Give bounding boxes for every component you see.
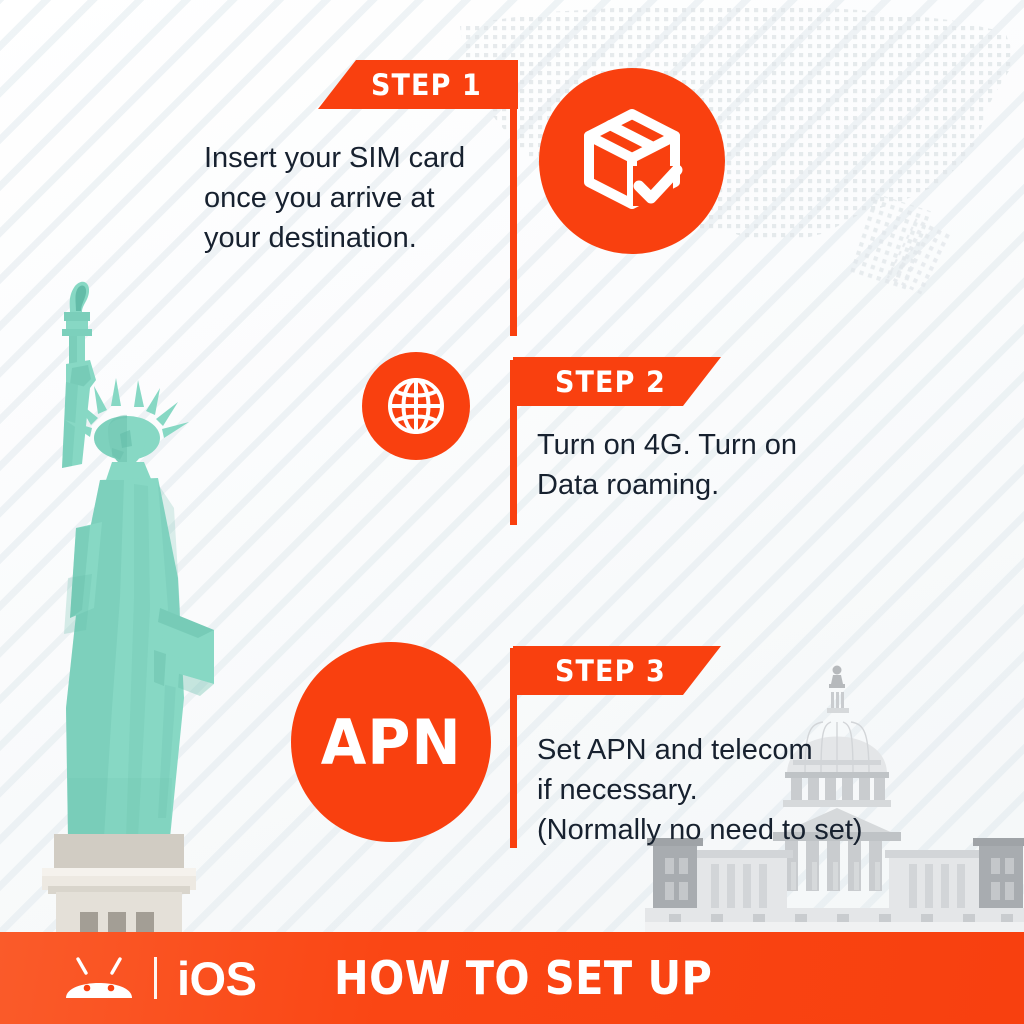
step-3-icon-circle: APN	[291, 642, 491, 842]
apn-text-icon: APN	[321, 706, 462, 779]
step-2-banner-label: STEP 2	[555, 365, 666, 399]
statue-of-liberty-illustration	[8, 278, 223, 938]
usa-dotted-map-pattern	[430, 0, 1024, 320]
step-3-banner-label: STEP 3	[555, 654, 666, 688]
step-1-banner-label: STEP 1	[371, 68, 482, 102]
step-1-banner: STEP 1	[318, 60, 518, 109]
footer-title: HOW TO SET UP	[334, 951, 712, 1005]
step-2-body-text: Turn on 4G. Turn on Data roaming.	[537, 425, 867, 505]
ios-label: iOS	[177, 951, 256, 1006]
globe-icon	[382, 372, 450, 440]
infographic-canvas: STEP 1 Insert your SIM card once you arr…	[0, 0, 1024, 1024]
step-1-body-text: Insert your SIM card once you arrive at …	[204, 138, 514, 258]
step-3-body-text: Set APN and telecom if necessary. (Norma…	[537, 730, 897, 850]
os-divider	[154, 957, 157, 999]
package-check-icon	[573, 102, 691, 220]
step-2-icon-circle	[362, 352, 470, 460]
step-2-banner: STEP 2	[513, 357, 721, 406]
android-robot-icon	[62, 956, 136, 1000]
step-3-banner: STEP 3	[513, 646, 721, 695]
footer-bar: iOS HOW TO SET UP	[0, 932, 1024, 1024]
step-1-icon-circle	[539, 68, 725, 254]
